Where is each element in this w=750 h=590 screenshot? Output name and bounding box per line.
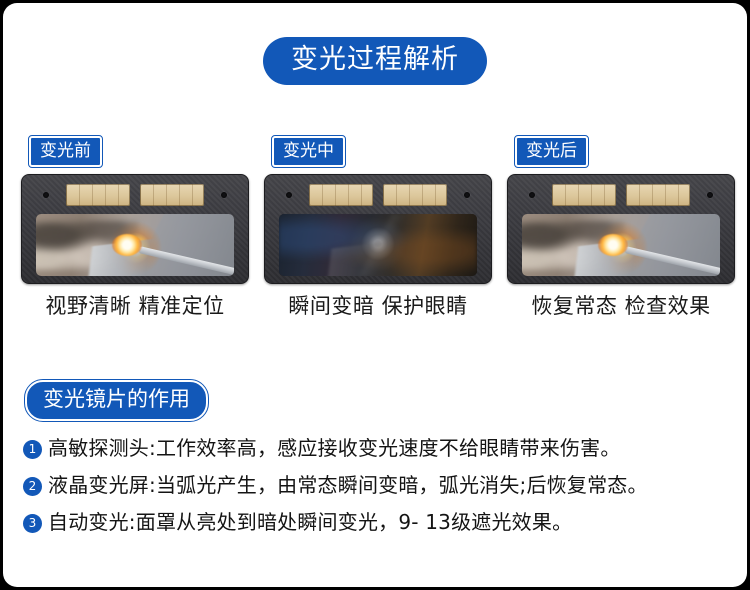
lens-darkening-overlay [279,214,477,276]
page-title-container: 变光过程解析 [3,37,747,85]
content-card: 变光过程解析 变光前 [3,3,747,587]
welding-lens-cartridge-darkened [264,174,492,284]
sensor-dot-left-icon [43,192,49,198]
sensor-dot-left-icon [286,192,292,198]
lens-viewing-window [36,214,234,276]
sensor-dot-right-icon [221,192,227,198]
feature-text: 自动变光:面罩从亮处到暗处瞬间变光，9- 13级遮光效果。 [48,509,572,536]
list-item: 1 高敏探测头:工作效率高，感应接收变光速度不给眼睛带来伤害。 [23,435,735,462]
solar-cell-right [140,184,204,206]
features-heading: 变光镜片的作用 [25,380,208,421]
sensor-dot-left-icon [529,192,535,198]
process-stage-during: 变光中 瞬间变暗 保护眼睛 [264,136,492,319]
stage-caption-during: 瞬间变暗 保护眼睛 [264,293,492,319]
process-stage-after: 变光后 恢复常态 检查效果 [507,136,735,319]
welding-lens-cartridge-restored [507,174,735,284]
welding-arc-glow [112,234,142,256]
features-heading-container: 变光镜片的作用 [25,380,208,421]
solar-cell-right [626,184,690,206]
lens-viewing-window [279,214,477,276]
solar-cell-row [30,182,240,208]
features-list: 1 高敏探测头:工作效率高，感应接收变光速度不给眼睛带来伤害。 2 液晶变光屏:… [23,435,735,546]
process-stage-before: 变光前 视野清晰 精准定位 [21,136,249,319]
page-root: 变光过程解析 变光前 [0,0,750,590]
stage-badge-during: 变光中 [272,136,345,167]
bullet-number-icon: 3 [23,514,42,533]
stage-caption-before: 视野清晰 精准定位 [21,293,249,319]
welding-lens-cartridge-clear [21,174,249,284]
welding-arc-glow [598,234,628,256]
solar-cell-right [383,184,447,206]
solar-cell-left [66,184,130,206]
process-panels: 变光前 视野清晰 精准定位 [21,136,735,319]
list-item: 3 自动变光:面罩从亮处到暗处瞬间变光，9- 13级遮光效果。 [23,509,735,536]
list-item: 2 液晶变光屏:当弧光产生，由常态瞬间变暗，弧光消失;后恢复常态。 [23,472,735,499]
page-title: 变光过程解析 [263,37,487,85]
solar-cell-left [309,184,373,206]
bullet-number-icon: 2 [23,477,42,496]
stage-badge-before: 变光前 [29,136,102,167]
bullet-number-icon: 1 [23,440,42,459]
feature-text: 液晶变光屏:当弧光产生，由常态瞬间变暗，弧光消失;后恢复常态。 [48,472,648,499]
stage-badge-after: 变光后 [515,136,588,167]
feature-text: 高敏探测头:工作效率高，感应接收变光速度不给眼睛带来伤害。 [48,435,621,462]
sensor-dot-right-icon [707,192,713,198]
lens-viewing-window [522,214,720,276]
solar-cell-row [273,182,483,208]
sensor-dot-right-icon [464,192,470,198]
solar-cell-left [552,184,616,206]
solar-cell-row [516,182,726,208]
stage-caption-after: 恢复常态 检查效果 [507,293,735,319]
